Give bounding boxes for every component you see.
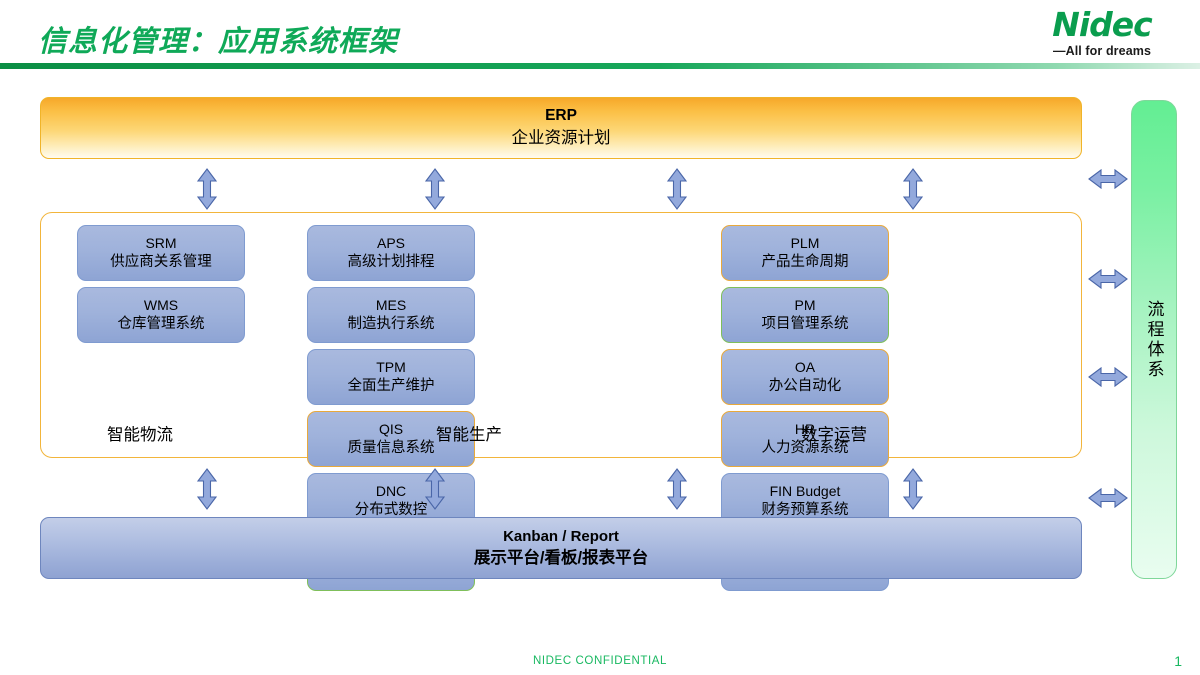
system-box-aps[interactable]: APS 高级计划排程 (307, 225, 475, 281)
column-caption-production: 智能生产 (436, 421, 502, 445)
process-system-label: 流程体系 (1146, 300, 1163, 380)
confidential-footer: NIDEC CONFIDENTIAL (0, 655, 1200, 667)
logo-tagline: —All for dreams (1022, 44, 1182, 58)
double-headed-vertical-arrow-icon (902, 468, 924, 510)
nidec-logo: Nidec —All for dreams (1022, 8, 1182, 58)
slide-canvas: 信息化管理：应用系统框架 Nidec —All for dreams ERP 企… (0, 0, 1200, 675)
system-name-en: TPM (376, 359, 406, 377)
kanban-name-en: Kanban / Report (503, 527, 619, 547)
slide-header: 信息化管理：应用系统框架 Nidec —All for dreams (0, 0, 1200, 80)
application-systems-container: SRM 供应商关系管理 WMS 仓库管理系统 APS 高级计划排程 MES 制造… (40, 212, 1082, 458)
kanban-name-cn: 展示平台/看板/报表平台 (474, 547, 648, 569)
double-headed-horizontal-arrow-icon (1088, 487, 1128, 509)
system-name-cn: 制造执行系统 (348, 315, 435, 334)
system-name-cn: 全面生产维护 (348, 377, 435, 396)
system-name-en: APS (377, 235, 405, 253)
erp-layer-box[interactable]: ERP 企业资源计划 (40, 97, 1082, 159)
double-headed-vertical-arrow-icon (902, 168, 924, 210)
double-headed-vertical-arrow-icon (666, 168, 688, 210)
double-headed-vertical-arrow-icon (666, 468, 688, 510)
system-name-cn: 办公自动化 (769, 377, 842, 396)
system-name-cn: 高级计划排程 (348, 253, 435, 272)
page-number: 1 (1174, 653, 1182, 669)
double-headed-horizontal-arrow-icon (1088, 168, 1128, 190)
kanban-report-box[interactable]: Kanban / Report 展示平台/看板/报表平台 (40, 517, 1082, 579)
system-name-cn: 质量信息系统 (348, 439, 435, 458)
double-headed-horizontal-arrow-icon (1088, 268, 1128, 290)
column-caption-operations: 数字运营 (801, 421, 867, 445)
system-box-grid-logistics: SRM 供应商关系管理 WMS 仓库管理系统 (77, 225, 245, 343)
system-box-pm[interactable]: PM 项目管理系统 (721, 287, 889, 343)
system-name-en: SRM (145, 235, 176, 253)
title-divider (0, 63, 1200, 69)
system-name-en: MES (376, 297, 406, 315)
double-headed-vertical-arrow-icon (424, 468, 446, 510)
system-name-en: DNC (376, 483, 406, 501)
double-headed-vertical-arrow-icon (196, 468, 218, 510)
system-name-en: WMS (144, 297, 178, 315)
column-caption-logistics: 智能物流 (107, 421, 173, 445)
system-box-oa[interactable]: OA 办公自动化 (721, 349, 889, 405)
double-headed-horizontal-arrow-icon (1088, 366, 1128, 388)
erp-name-cn: 企业资源计划 (512, 127, 611, 149)
system-box-wms[interactable]: WMS 仓库管理系统 (77, 287, 245, 343)
double-headed-vertical-arrow-icon (196, 168, 218, 210)
system-box-plm[interactable]: PLM 产品生命周期 (721, 225, 889, 281)
system-name-cn: 仓库管理系统 (118, 315, 205, 334)
system-name-cn: 供应商关系管理 (110, 253, 212, 272)
system-box-mes[interactable]: MES 制造执行系统 (307, 287, 475, 343)
system-name-en: PM (795, 297, 816, 315)
system-name-en: PLM (791, 235, 820, 253)
erp-name-en: ERP (545, 106, 577, 127)
process-system-bar[interactable]: 流程体系 (1131, 100, 1177, 579)
system-name-cn: 产品生命周期 (762, 253, 849, 272)
system-name-cn: 项目管理系统 (762, 315, 849, 334)
column-logistics: SRM 供应商关系管理 WMS 仓库管理系统 (77, 225, 245, 343)
system-name-en: QIS (379, 421, 403, 439)
logo-wordmark: Nidec (1022, 8, 1182, 41)
double-headed-vertical-arrow-icon (424, 168, 446, 210)
system-box-srm[interactable]: SRM 供应商关系管理 (77, 225, 245, 281)
page-title: 信息化管理：应用系统框架 (38, 18, 398, 60)
system-box-tpm[interactable]: TPM 全面生产维护 (307, 349, 475, 405)
system-name-en: FIN Budget (770, 483, 841, 501)
system-name-en: OA (795, 359, 815, 377)
